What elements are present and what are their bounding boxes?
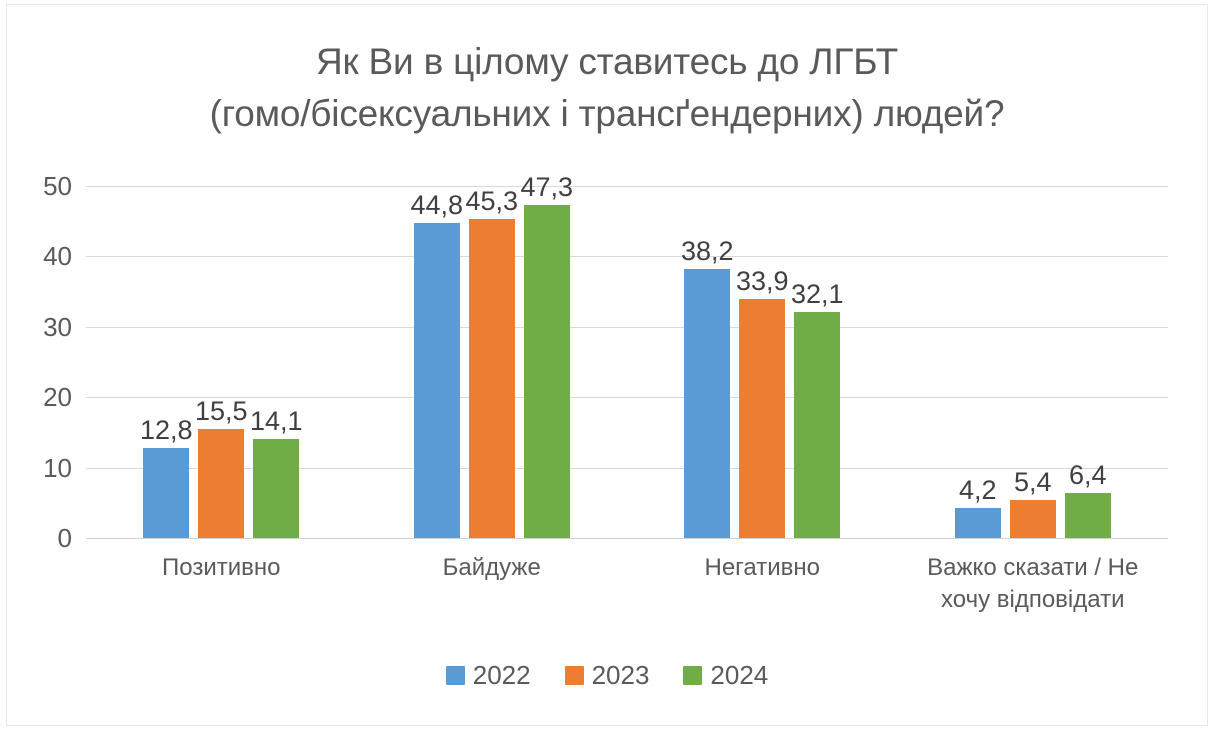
bar-2022-2[interactable] (414, 223, 460, 538)
bar-value-label: 33,9 (736, 268, 789, 295)
bar-2023-1[interactable] (198, 429, 244, 538)
y-tick-label: 10 (8, 455, 72, 481)
chart-legend: 202220232024 (0, 662, 1214, 688)
x-category-label: Позитивно (86, 552, 357, 616)
y-tick-label: 20 (8, 384, 72, 410)
bar-group-bars: 12,815,514,1 (86, 186, 357, 538)
bar-group: 44,845,347,3 (357, 186, 628, 538)
bar-slot: 5,4 (1010, 186, 1056, 538)
bar-value-label: 45,3 (465, 188, 518, 215)
bar-value-label: 12,8 (140, 417, 193, 444)
legend-item-2023[interactable]: 2023 (565, 662, 650, 688)
bar-slot: 45,3 (469, 186, 515, 538)
bar-2022-4[interactable] (955, 508, 1001, 538)
bar-slot: 47,3 (524, 186, 570, 538)
bar-group: 38,233,932,1 (627, 186, 898, 538)
axis-baseline (86, 538, 1168, 539)
bar-group-bars: 44,845,347,3 (357, 186, 628, 538)
y-tick-label: 40 (8, 243, 72, 269)
legend-swatch-icon (683, 666, 702, 685)
bar-group-bars: 38,233,932,1 (627, 186, 898, 538)
bar-slot: 33,9 (739, 186, 785, 538)
bar-slot: 4,2 (955, 186, 1001, 538)
bar-group-bars: 4,25,46,4 (898, 186, 1169, 538)
bar-group: 12,815,514,1 (86, 186, 357, 538)
bar-2024-4[interactable] (1065, 493, 1111, 538)
bar-slot: 12,8 (143, 186, 189, 538)
x-category-label: Важко сказати / Не хочу відповідати (898, 552, 1169, 616)
bar-2022-1[interactable] (143, 448, 189, 538)
bar-2024-2[interactable] (524, 205, 570, 538)
bar-value-label: 5,4 (1014, 469, 1052, 496)
bar-2024-1[interactable] (253, 439, 299, 538)
x-category-label: Негативно (627, 552, 898, 616)
x-category-label: Байдуже (357, 552, 628, 616)
bar-2023-2[interactable] (469, 219, 515, 538)
bar-value-label: 14,1 (250, 408, 303, 435)
chart-title: Як Ви в цілому ставитесь до ЛГБТ (гомо/б… (0, 36, 1214, 140)
legend-label: 2024 (710, 662, 768, 688)
bar-2023-4[interactable] (1010, 500, 1056, 538)
legend-swatch-icon (446, 666, 465, 685)
legend-label: 2022 (473, 662, 531, 688)
bar-slot: 6,4 (1065, 186, 1111, 538)
x-axis-category-labels: ПозитивноБайдужеНегативноВажко сказати /… (86, 552, 1168, 616)
legend-label: 2023 (592, 662, 650, 688)
bar-value-label: 44,8 (410, 192, 463, 219)
y-axis: 50403020100 (8, 186, 72, 538)
bar-value-label: 47,3 (520, 174, 573, 201)
bar-value-label: 6,4 (1069, 462, 1107, 489)
bar-value-label: 32,1 (791, 281, 844, 308)
bar-value-label: 38,2 (681, 238, 734, 265)
legend-item-2024[interactable]: 2024 (683, 662, 768, 688)
legend-swatch-icon (565, 666, 584, 685)
bar-slot: 38,2 (684, 186, 730, 538)
chart-container: Як Ви в цілому ставитесь до ЛГБТ (гомо/б… (0, 0, 1214, 737)
bar-slot: 32,1 (794, 186, 840, 538)
bar-2022-3[interactable] (684, 269, 730, 538)
y-tick-label: 50 (8, 173, 72, 199)
legend-item-2022[interactable]: 2022 (446, 662, 531, 688)
bar-2023-3[interactable] (739, 299, 785, 538)
bar-slot: 14,1 (253, 186, 299, 538)
bar-value-label: 4,2 (959, 477, 997, 504)
bar-slot: 44,8 (414, 186, 460, 538)
bar-2024-3[interactable] (794, 312, 840, 538)
bar-groups: 12,815,514,144,845,347,338,233,932,14,25… (86, 186, 1168, 538)
bar-value-label: 15,5 (195, 398, 248, 425)
bar-group: 4,25,46,4 (898, 186, 1169, 538)
y-tick-label: 30 (8, 314, 72, 340)
bar-slot: 15,5 (198, 186, 244, 538)
y-tick-label: 0 (8, 525, 72, 551)
